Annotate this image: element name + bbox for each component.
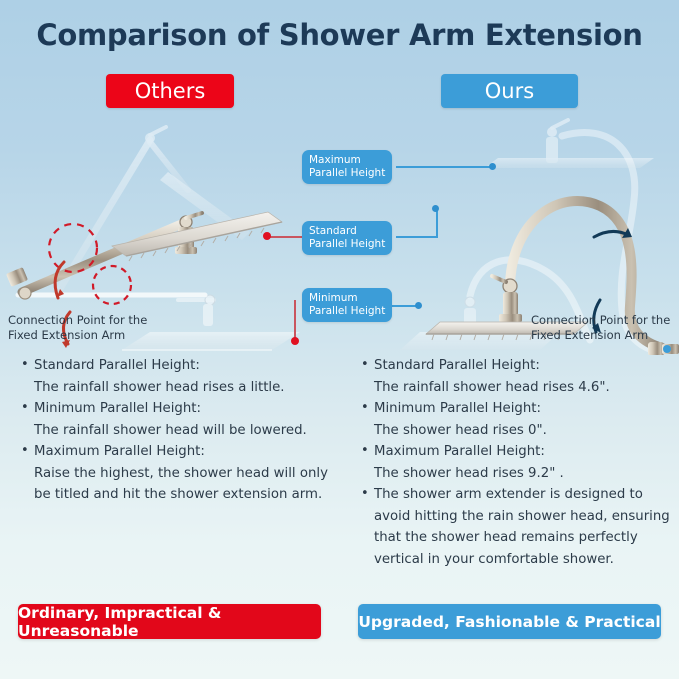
callout-maximum-parallel-height: Maximum Parallel Height bbox=[302, 150, 392, 184]
list-item: The shower arm extender is designed to a… bbox=[358, 484, 670, 570]
leader-dot-standard-blue bbox=[432, 205, 439, 212]
connection-point-note-left-line2: Fixed Extension Arm bbox=[8, 328, 147, 343]
leader-dot-minimum-blue bbox=[415, 302, 422, 309]
ours-top-joint bbox=[492, 276, 522, 322]
bullet-body: The shower head rises 0". bbox=[374, 420, 670, 442]
bullet-body: The rainfall shower head rises 4.6". bbox=[374, 377, 670, 399]
callout-standard-line1: Standard bbox=[309, 225, 385, 238]
callout-maximum-line1: Maximum bbox=[309, 154, 385, 167]
callout-standard-parallel-height: Standard Parallel Height bbox=[302, 221, 392, 255]
leader-line-standard-blue-vert bbox=[436, 208, 438, 238]
callout-maximum-line2: Parallel Height bbox=[309, 167, 385, 180]
badge-others: Others bbox=[106, 74, 234, 108]
list-item: Maximum Parallel Height: Raise the highe… bbox=[18, 441, 340, 506]
leader-dot-minimum-red bbox=[291, 337, 299, 345]
leader-dot-maximum bbox=[489, 163, 496, 170]
callout-minimum-parallel-height: Minimum Parallel Height bbox=[302, 288, 392, 322]
bullet-heading: Maximum Parallel Height: bbox=[34, 444, 205, 459]
ours-wall-connector bbox=[648, 342, 679, 355]
ours-bullet-list: Standard Parallel Height: The rainfall s… bbox=[358, 355, 670, 570]
banner-ours-verdict: Upgraded, Fashionable & Practical bbox=[358, 604, 661, 639]
bullet-heading: Standard Parallel Height: bbox=[34, 358, 200, 373]
bullet-heading: Standard Parallel Height: bbox=[374, 358, 540, 373]
list-item: Standard Parallel Height: The rainfall s… bbox=[358, 355, 670, 398]
leader-line-maximum bbox=[396, 166, 492, 168]
connection-point-note-right: Connection Point for the Fixed Extension… bbox=[531, 313, 670, 343]
bullet-body: The rainfall shower head will be lowered… bbox=[34, 420, 340, 442]
callout-minimum-line2: Parallel Height bbox=[309, 305, 385, 318]
others-ghost-lowered bbox=[122, 295, 300, 350]
others-shower-head bbox=[112, 212, 282, 261]
leader-dot-standard-red bbox=[263, 232, 271, 240]
bullet-heading: Minimum Parallel Height: bbox=[34, 401, 201, 416]
leader-line-minimum-blue bbox=[390, 305, 418, 307]
connection-point-note-right-line2: Fixed Extension Arm bbox=[531, 328, 670, 343]
ours-ghost-straight bbox=[484, 120, 654, 168]
list-item: Minimum Parallel Height: The shower head… bbox=[358, 398, 670, 441]
connection-point-note-left-line1: Connection Point for the bbox=[8, 313, 147, 328]
callout-minimum-line1: Minimum bbox=[309, 292, 385, 305]
bullet-body: The rainfall shower head rises a little. bbox=[34, 377, 340, 399]
comparison-infographic: Comparison of Shower Arm Extension Other… bbox=[0, 0, 679, 679]
others-extension-arm bbox=[6, 213, 202, 299]
others-bullet-list: Standard Parallel Height: The rainfall s… bbox=[18, 355, 340, 506]
list-item: Minimum Parallel Height: The rainfall sh… bbox=[18, 398, 340, 441]
leader-line-standard-red bbox=[268, 236, 304, 238]
page-title: Comparison of Shower Arm Extension bbox=[0, 18, 679, 52]
connection-point-note-left: Connection Point for the Fixed Extension… bbox=[8, 313, 147, 343]
bullet-body: The shower arm extender is designed to a… bbox=[374, 487, 670, 567]
leader-line-standard-blue bbox=[396, 236, 438, 238]
bullet-heading: Maximum Parallel Height: bbox=[374, 444, 545, 459]
callout-standard-line2: Parallel Height bbox=[309, 238, 385, 251]
bullet-body: The shower head rises 9.2" . bbox=[374, 463, 670, 485]
leader-line-minimum-red-vert bbox=[294, 300, 296, 340]
collision-marker-lower bbox=[93, 266, 131, 304]
bullet-heading: Minimum Parallel Height: bbox=[374, 401, 541, 416]
list-item: Standard Parallel Height: The rainfall s… bbox=[18, 355, 340, 398]
badge-ours: Ours bbox=[441, 74, 578, 108]
banner-others-verdict: Ordinary, Impractical & Unreasonable bbox=[18, 604, 321, 639]
list-item: Maximum Parallel Height: The shower head… bbox=[358, 441, 670, 484]
connection-point-note-right-line1: Connection Point for the bbox=[531, 313, 670, 328]
bullet-body: Raise the highest, the shower head will … bbox=[34, 463, 340, 506]
